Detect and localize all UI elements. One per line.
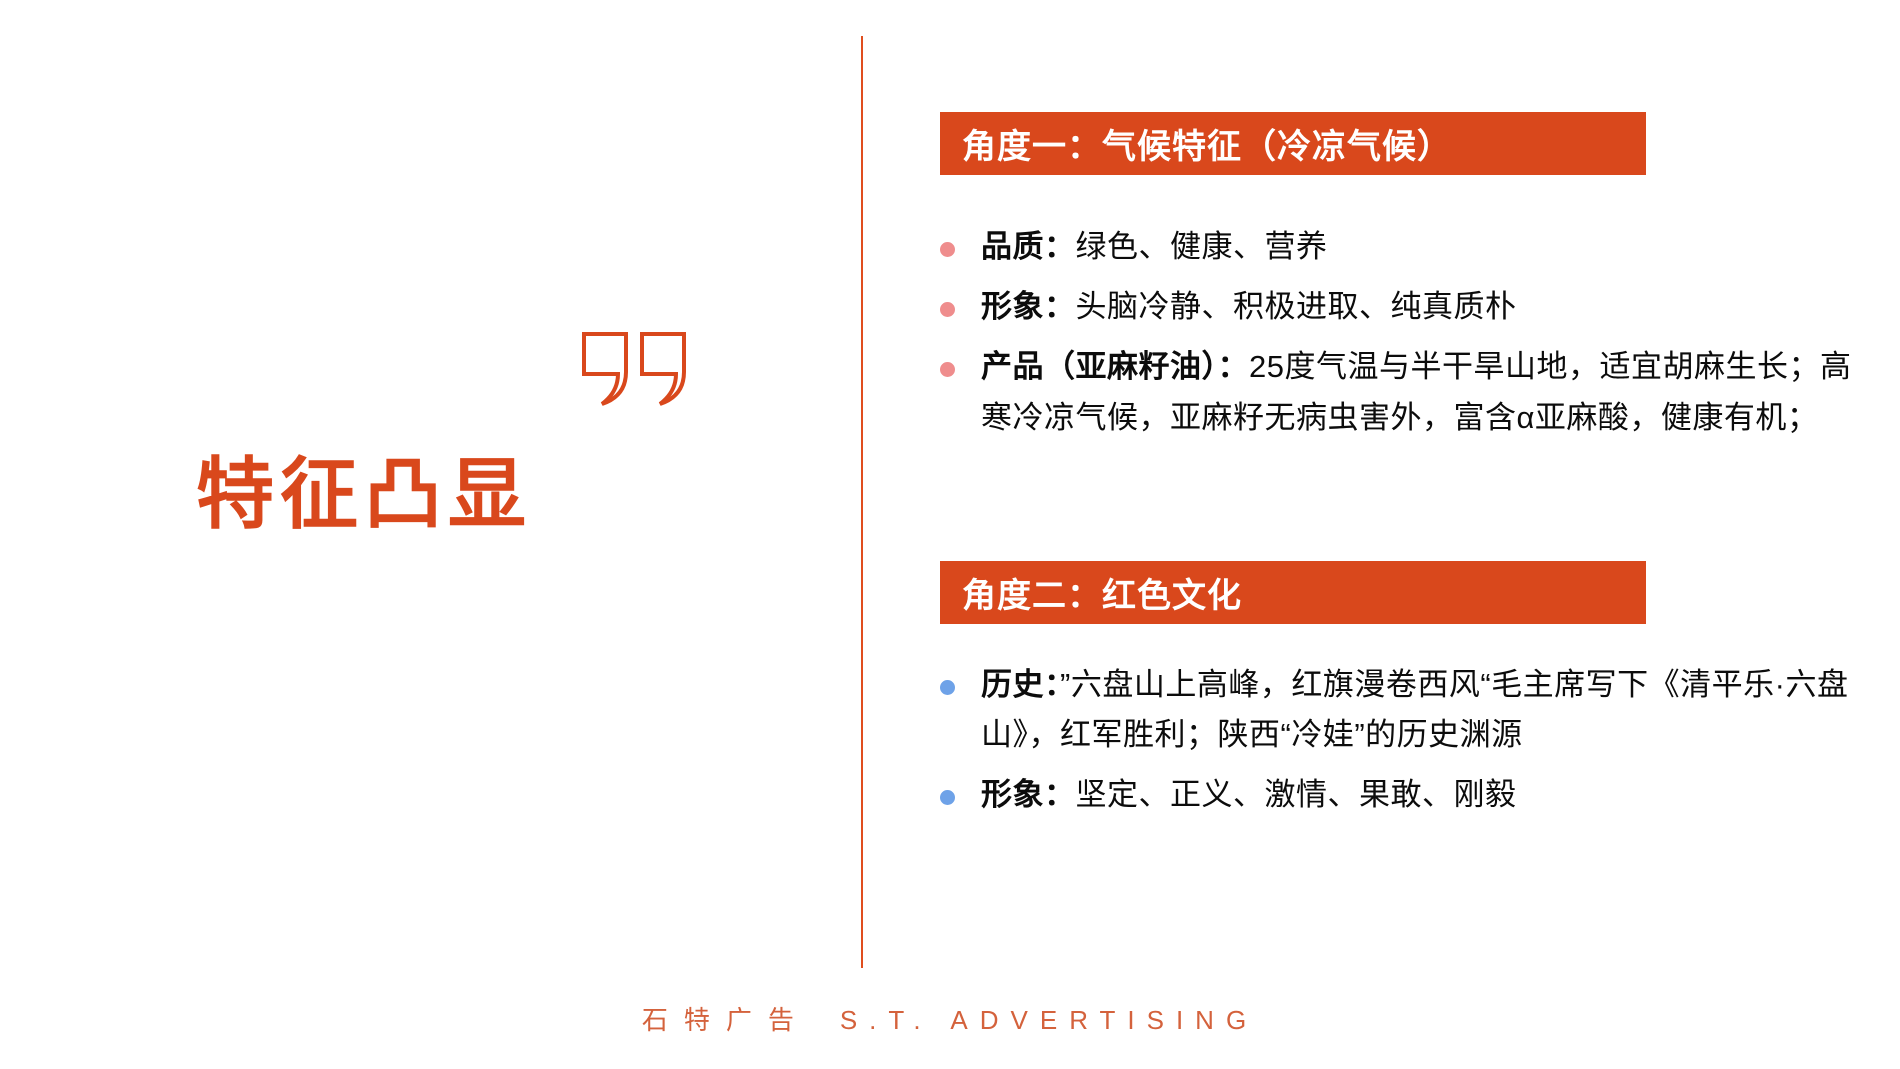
- page-title: 特征凸显: [196, 452, 532, 538]
- list-item-text: 历史：”六盘山上高峰，红旗漫卷西风“毛主席写下《清平乐·六盘山》，红军胜利；陕西…: [981, 660, 1875, 760]
- list-item-label: 品质：: [981, 229, 1076, 264]
- list-item-body: 坚定、正义、激情、果敢、刚毅: [1076, 777, 1517, 812]
- footer-english: S.T. ADVERTISING: [840, 1005, 1258, 1035]
- bullet-list-1: 品质：绿色、健康、营养 形象：头脑冷静、积极进取、纯真质朴 产品（亚麻籽油）：2…: [940, 222, 1875, 453]
- left-panel: 特征凸显: [0, 0, 862, 1069]
- list-item-label: 历史：: [981, 667, 1060, 702]
- bullet-dot-icon: [940, 362, 955, 377]
- list-item-label: 形象：: [981, 777, 1076, 812]
- list-item: 形象：坚定、正义、激情、果敢、刚毅: [940, 770, 1875, 820]
- section-header-2-label: 角度二：红色文化: [962, 568, 1242, 617]
- list-item-text: 形象：坚定、正义、激情、果敢、刚毅: [981, 770, 1875, 820]
- list-item-text: 品质：绿色、健康、营养: [981, 222, 1875, 272]
- list-item: 品质：绿色、健康、营养: [940, 222, 1875, 272]
- bullet-dot-icon: [940, 790, 955, 805]
- closing-quote-icon: [580, 330, 690, 408]
- list-item-label: 产品（亚麻籽油）：: [981, 349, 1249, 384]
- list-item-label: 形象：: [981, 289, 1076, 324]
- bullet-list-2: 历史：”六盘山上高峰，红旗漫卷西风“毛主席写下《清平乐·六盘山》，红军胜利；陕西…: [940, 660, 1875, 831]
- section-header-1-label: 角度一：气候特征（冷凉气候）: [962, 119, 1452, 168]
- section-header-1: 角度一：气候特征（冷凉气候）: [940, 112, 1646, 175]
- list-item-body: 头脑冷静、积极进取、纯真质朴: [1076, 289, 1517, 324]
- right-panel: 角度一：气候特征（冷凉气候） 品质：绿色、健康、营养 形象：头脑冷静、积极进取、…: [940, 0, 1900, 1069]
- bullet-dot-icon: [940, 680, 955, 695]
- list-item: 形象：头脑冷静、积极进取、纯真质朴: [940, 282, 1875, 332]
- list-item-body: 绿色、健康、营养: [1076, 229, 1328, 264]
- list-item: 产品（亚麻籽油）：25度气温与半干旱山地，适宜胡麻生长；高寒冷凉气候，亚麻籽无病…: [940, 342, 1875, 442]
- list-item-body: ”六盘山上高峰，红旗漫卷西风“毛主席写下《清平乐·六盘山》，红军胜利；陕西“冷娃…: [981, 667, 1848, 752]
- list-item: 历史：”六盘山上高峰，红旗漫卷西风“毛主席写下《清平乐·六盘山》，红军胜利；陕西…: [940, 660, 1875, 760]
- bullet-dot-icon: [940, 302, 955, 317]
- vertical-divider: [861, 36, 863, 968]
- section-header-2: 角度二：红色文化: [940, 561, 1646, 624]
- footer-chinese: 石特广告: [642, 1005, 810, 1035]
- bullet-dot-icon: [940, 242, 955, 257]
- list-item-text: 产品（亚麻籽油）：25度气温与半干旱山地，适宜胡麻生长；高寒冷凉气候，亚麻籽无病…: [981, 342, 1875, 442]
- list-item-text: 形象：头脑冷静、积极进取、纯真质朴: [981, 282, 1875, 332]
- slide-root: 特征凸显 角度一：气候特征（冷凉气候） 品质：绿色、健康、营养 形象：头脑冷静、…: [0, 0, 1900, 1069]
- footer: 石特广告S.T. ADVERTISING: [0, 1000, 1900, 1037]
